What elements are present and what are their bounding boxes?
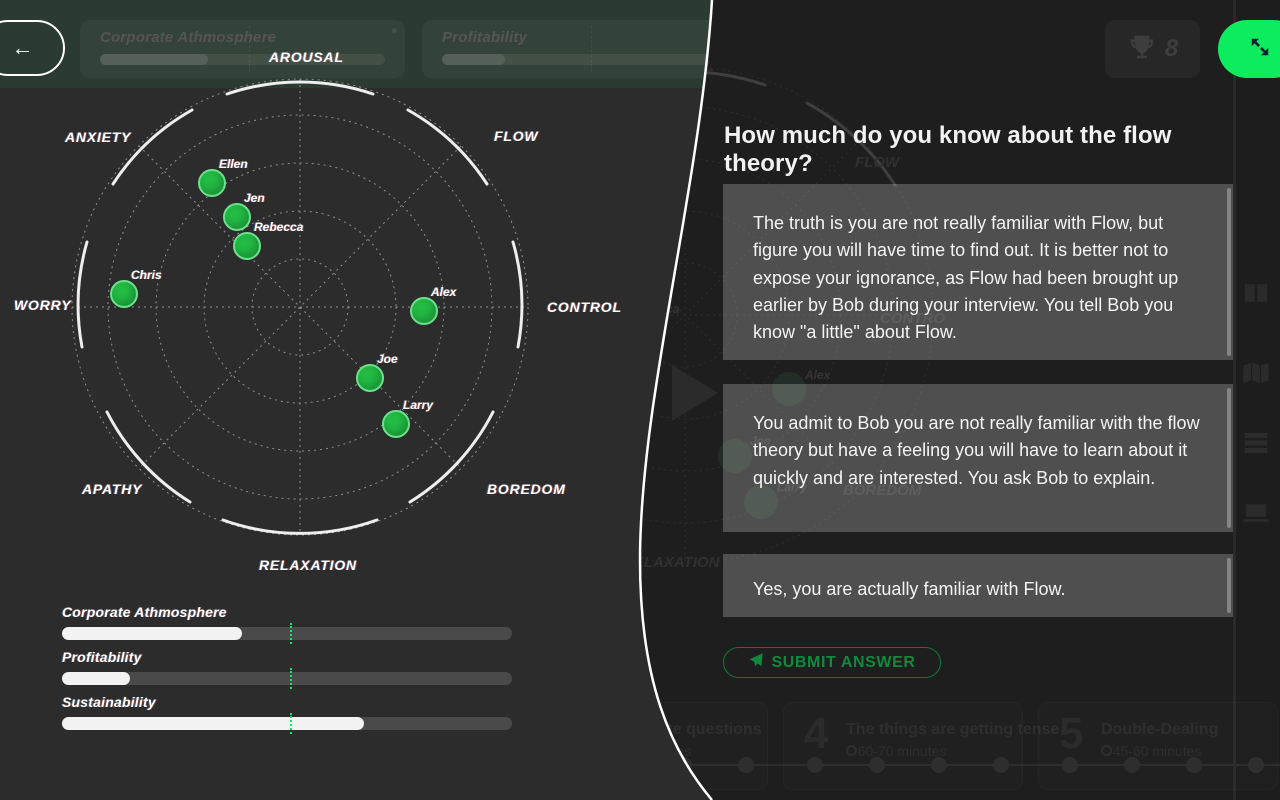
slider-track[interactable] xyxy=(62,717,512,730)
arrow-left-icon: ← xyxy=(12,35,34,61)
submit-answer-button[interactable]: SUBMIT ANSWER xyxy=(723,647,941,678)
stat-label: Profitability xyxy=(442,29,527,46)
radar-point-label: Jen xyxy=(244,191,265,205)
radar-label-flow: FLOW xyxy=(494,128,538,144)
radar-label-relaxation: RELAXATION xyxy=(259,557,357,573)
radar-point-jen[interactable] xyxy=(223,203,251,231)
answer-scrollbar[interactable] xyxy=(1227,558,1231,613)
slider-label: Corporate Athmosphere xyxy=(62,604,512,620)
slider-track[interactable] xyxy=(62,627,512,640)
radar-point-alex[interactable] xyxy=(410,297,438,325)
stat-divider xyxy=(591,26,592,72)
foreground-overlay: AROUSALFLOWCONTROLBOREDOMRELAXATIONAPATH… xyxy=(0,0,1280,800)
slider-fill xyxy=(62,672,130,685)
radar-point-label: Chris xyxy=(131,268,162,282)
answer-option-text: Yes, you are actually familiar with Flow… xyxy=(723,554,1233,625)
radar-point-label: Ellen xyxy=(219,157,248,171)
stat-track xyxy=(442,54,727,65)
radar-point-label: Rebecca xyxy=(254,220,303,234)
radar-label-anxiety: ANXIETY xyxy=(65,129,131,145)
back-button[interactable]: ← xyxy=(0,20,65,76)
slider-fill xyxy=(62,717,364,730)
slider-target-marker xyxy=(290,623,292,644)
stat-track xyxy=(100,54,385,65)
radar-point-label: Alex xyxy=(431,285,456,299)
radar-point-label: Joe xyxy=(377,352,398,366)
slider-track[interactable] xyxy=(62,672,512,685)
submit-answer-label: SUBMIT ANSWER xyxy=(771,654,915,672)
slider-fill xyxy=(62,627,242,640)
radar-label-control: CONTROL xyxy=(547,299,622,315)
question-panel: How much do you know about the flow theo… xyxy=(710,0,1280,800)
emotion-radar-chart[interactable] xyxy=(60,72,540,542)
stat-pin-icon xyxy=(392,28,397,33)
answer-option-2[interactable]: You admit to Bob you are not really fami… xyxy=(723,384,1233,532)
answer-option-3[interactable]: Yes, you are actually familiar with Flow… xyxy=(723,554,1233,617)
stat-card-1[interactable]: Profitability xyxy=(422,20,747,78)
radar-label-boredom: BOREDOM xyxy=(487,481,566,497)
slider-label: Sustainability xyxy=(62,694,512,710)
radar-point-ellen[interactable] xyxy=(198,169,226,197)
slider-label: Profitability xyxy=(62,649,512,665)
slider-target-marker xyxy=(290,668,292,689)
slider-1[interactable]: Profitability xyxy=(62,649,512,685)
stat-card-0[interactable]: Corporate Athmosphere xyxy=(80,20,405,78)
stat-fill xyxy=(442,54,505,65)
radar-point-chris[interactable] xyxy=(110,280,138,308)
answer-scrollbar[interactable] xyxy=(1227,188,1231,356)
answer-option-text: You admit to Bob you are not really fami… xyxy=(723,384,1233,518)
stat-fill xyxy=(100,54,208,65)
slider-2[interactable]: Sustainability xyxy=(62,694,512,730)
answer-option-text: The truth is you are not really familiar… xyxy=(723,184,1233,373)
stat-divider xyxy=(249,26,250,72)
paper-plane-icon xyxy=(748,652,764,673)
radar-label-apathy: APATHY xyxy=(82,481,142,497)
radar-point-larry[interactable] xyxy=(382,410,410,438)
radar-label-worry: WORRY xyxy=(14,297,71,313)
radar-point-joe[interactable] xyxy=(356,364,384,392)
radar-point-rebecca[interactable] xyxy=(233,232,261,260)
answer-option-1[interactable]: The truth is you are not really familiar… xyxy=(723,184,1233,360)
slider-target-marker xyxy=(290,713,292,734)
slider-0[interactable]: Corporate Athmosphere xyxy=(62,604,512,640)
question-title: How much do you know about the flow theo… xyxy=(724,122,1264,178)
radar-point-label: Larry xyxy=(403,398,433,412)
answer-scrollbar[interactable] xyxy=(1227,388,1231,528)
